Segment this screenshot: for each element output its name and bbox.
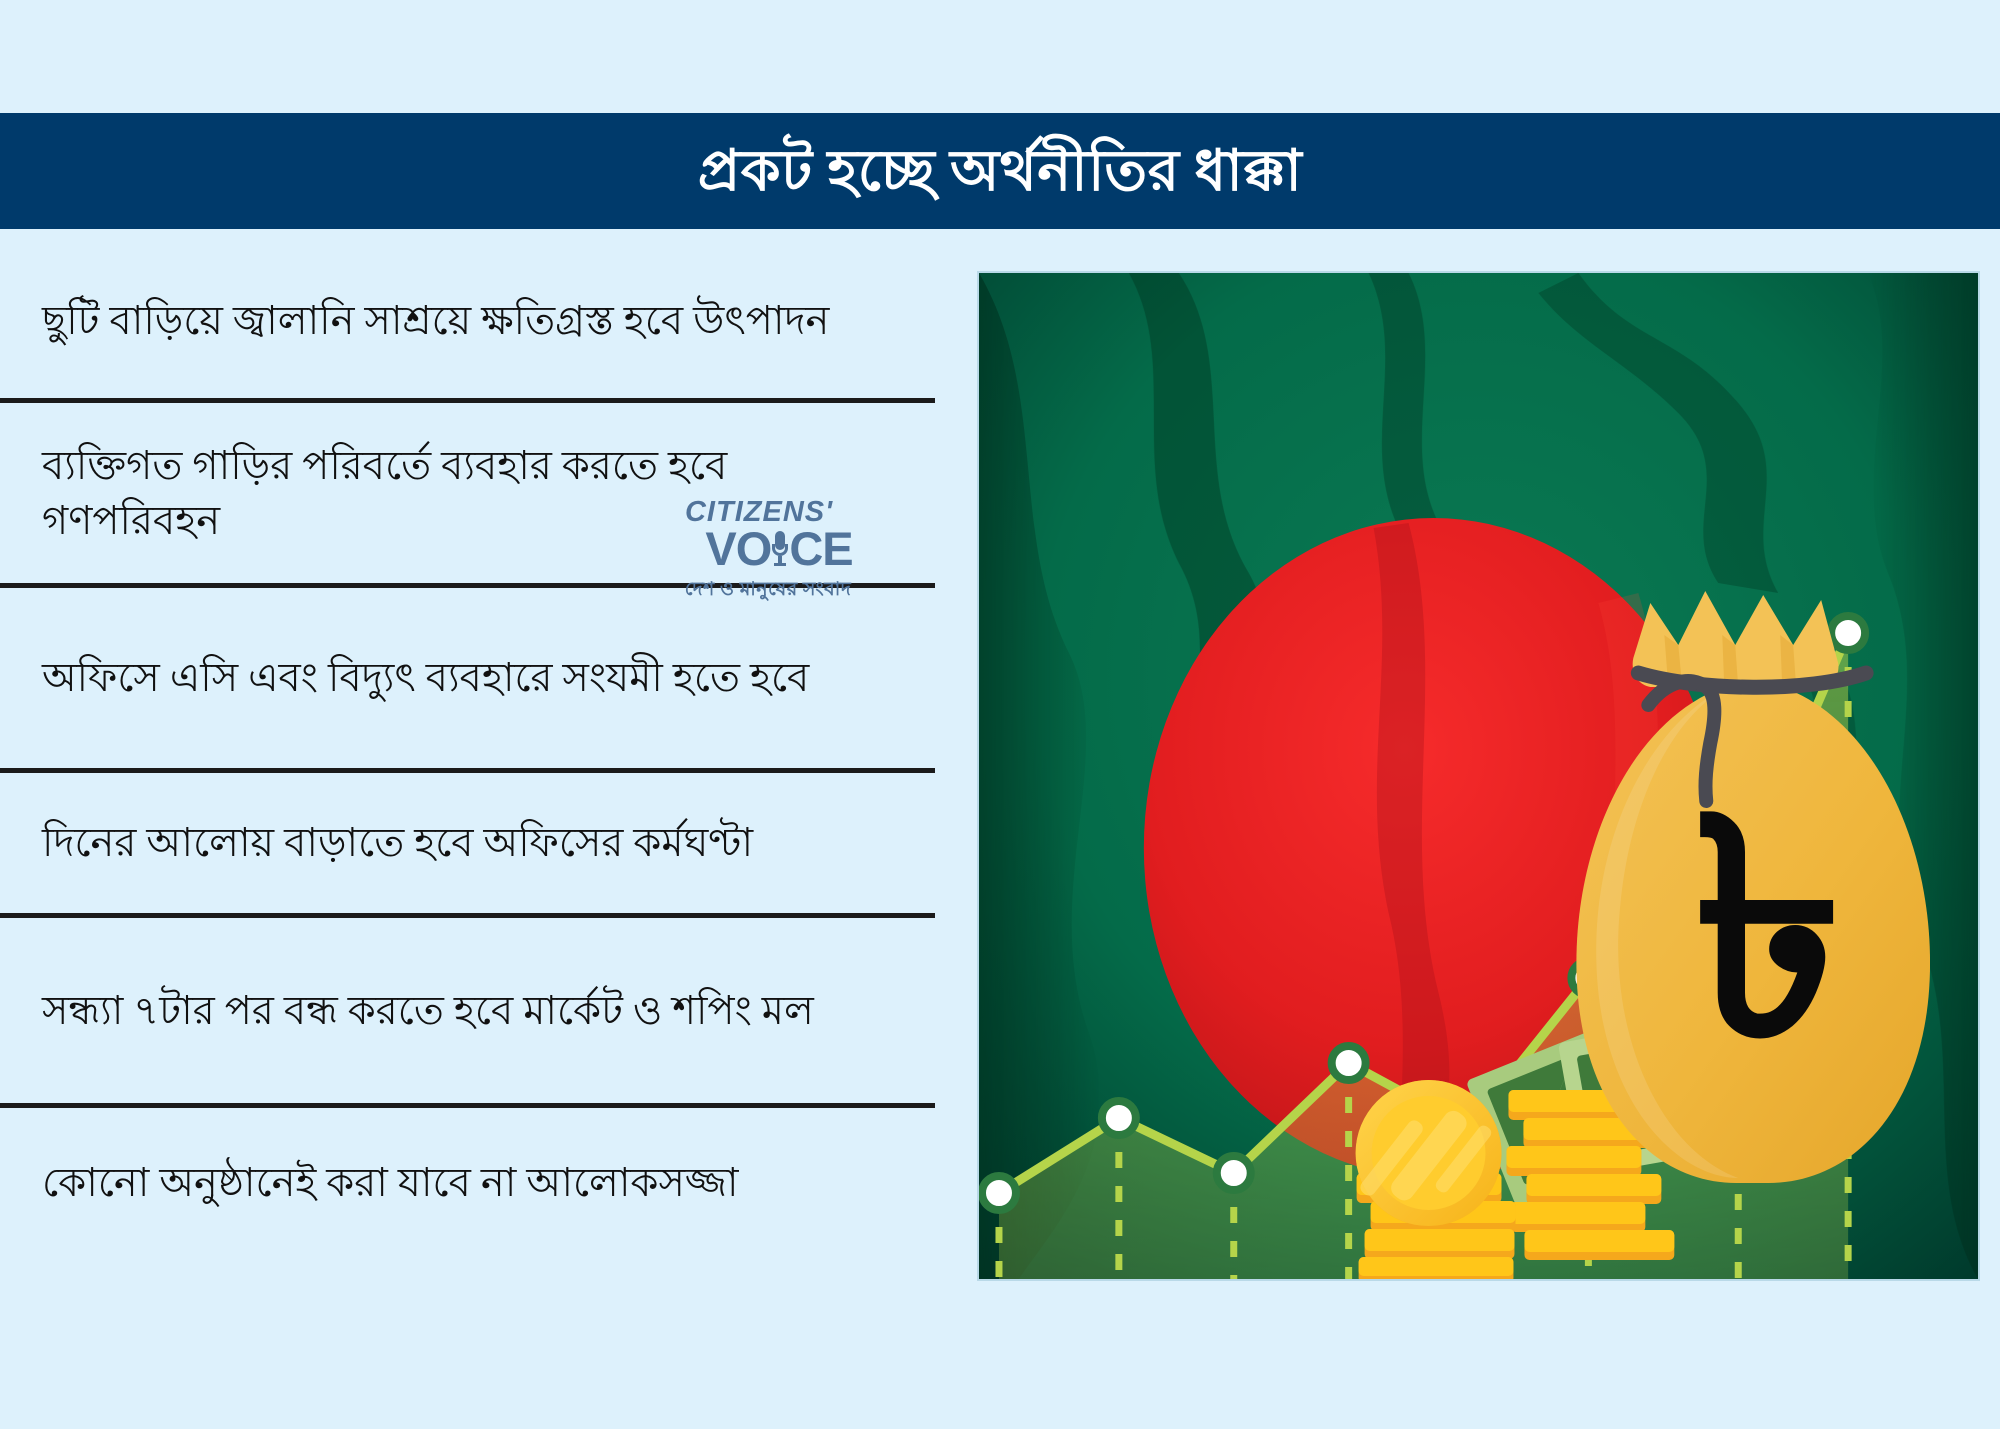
- list-item: কোনো অনুষ্ঠানেই করা যাবে না আলোকসজ্জা: [0, 1108, 940, 1258]
- list-item: সন্ধ্যা ৭টার পর বন্ধ করতে হবে মার্কেট ও …: [0, 918, 940, 1103]
- list-item: অফিসে এসি এবং বিদ্যুৎ ব্যবহারে সংযমী হতে…: [0, 588, 940, 768]
- illustration-panel: ৳: [977, 271, 1980, 1281]
- economy-illustration: ৳: [979, 273, 1978, 1279]
- list-item-text: অফিসে এসি এবং বিদ্যুৎ ব্যবহারে সংযমী হতে…: [42, 650, 809, 705]
- list-item: দিনের আলোয় বাড়াতে হবে অফিসের কর্মঘণ্টা: [0, 773, 940, 913]
- brand-tagline: দেশ ও মানুষের সংবাদ: [648, 575, 888, 607]
- brand-voice-left: VO: [705, 525, 771, 572]
- page-title: প্রকট হচ্ছে অর্থনীতির ধাক্কা: [698, 143, 1303, 200]
- brand-logo: CITIZENS' VO CE দেশ ও মানুষের সংবাদ: [648, 498, 888, 608]
- taka-currency-symbol: ৳: [1694, 766, 1843, 1098]
- list-item: ছুটি বাড়িয়ে জ্বালানি সাশ্রয়ে ক্ষতিগ্র…: [0, 243, 940, 398]
- brand-voice-right: CE: [789, 525, 852, 572]
- list-item-text: দিনের আলোয় বাড়াতে হবে অফিসের কর্মঘণ্টা: [42, 815, 753, 870]
- list-item-text: কোনো অনুষ্ঠানেই করা যাবে না আলোকসজ্জা: [42, 1155, 738, 1210]
- microphone-icon: [772, 531, 788, 567]
- points-list: ছুটি বাড়িয়ে জ্বালানি সাশ্রয়ে ক্ষতিগ্র…: [0, 243, 940, 1313]
- infographic-page: প্রকট হচ্ছে অর্থনীতির ধাক্কা ছুটি বাড়িয…: [0, 0, 2000, 1429]
- list-item-text: ছুটি বাড়িয়ে জ্বালানি সাশ্রয়ে ক্ষতিগ্র…: [42, 293, 829, 348]
- brand-name-voice: VO CE: [670, 525, 888, 572]
- header-bar: প্রকট হচ্ছে অর্থনীতির ধাক্কা: [0, 113, 2000, 229]
- standing-coin: [1356, 1080, 1502, 1226]
- list-item-text: সন্ধ্যা ৭টার পর বন্ধ করতে হবে মার্কেট ও …: [42, 983, 814, 1038]
